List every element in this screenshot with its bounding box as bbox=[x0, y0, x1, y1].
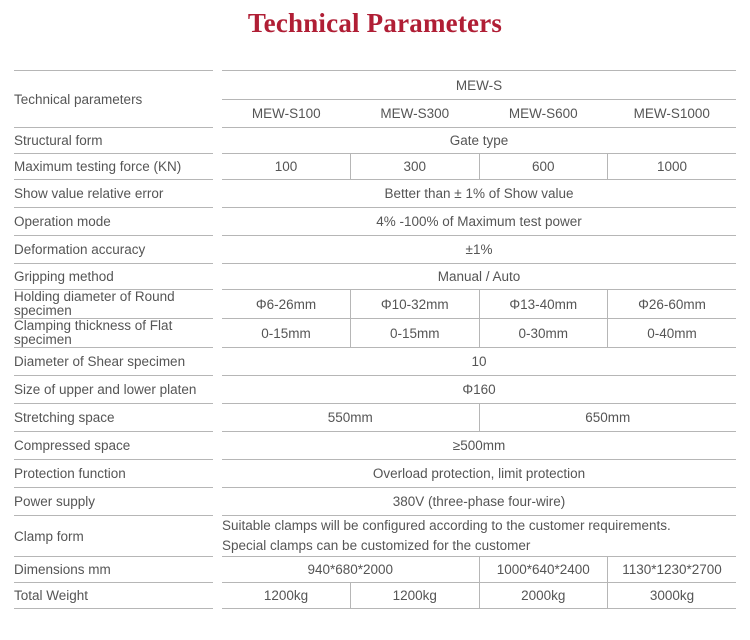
row-label-protection-function: Protection function bbox=[14, 460, 213, 488]
row-value-max-force-2: 300 bbox=[351, 154, 480, 180]
row-label-maximum-testing-force: Maximum testing force (KN) bbox=[14, 154, 213, 180]
row-value-clamp-form: Suitable clamps will be configured accor… bbox=[222, 516, 736, 557]
row-value-max-force-1: 100 bbox=[222, 154, 351, 180]
row-label-compressed-space: Compressed space bbox=[14, 432, 213, 460]
page-title: Technical Parameters bbox=[0, 8, 750, 39]
table-row: Protection function Overload protection,… bbox=[14, 460, 736, 488]
column-gap bbox=[213, 290, 222, 319]
column-gap bbox=[213, 348, 222, 376]
table-row: Total Weight 1200kg 1200kg 2000kg 3000kg bbox=[14, 583, 736, 609]
row-value-total-weight-4: 3000kg bbox=[608, 583, 737, 609]
row-value-total-weight-2: 1200kg bbox=[351, 583, 480, 609]
column-gap bbox=[213, 583, 222, 609]
table-row: Deformation accuracy ±1% bbox=[14, 236, 736, 264]
header-model-4: MEW-S1000 bbox=[608, 100, 737, 128]
column-gap bbox=[213, 432, 222, 460]
row-value-clamping-thickness-3: 0-30mm bbox=[479, 319, 608, 348]
row-label-stretching-space: Stretching space bbox=[14, 404, 213, 432]
table-header-series-row: Technical parameters MEW-S bbox=[14, 71, 736, 100]
row-label-power-supply: Power supply bbox=[14, 488, 213, 516]
table-row: Dimensions mm 940*680*2000 1000*640*2400… bbox=[14, 557, 736, 583]
table-row: Show value relative error Better than ± … bbox=[14, 180, 736, 208]
row-value-deformation-accuracy: ±1% bbox=[222, 236, 736, 264]
table-row: Compressed space ≥500mm bbox=[14, 432, 736, 460]
row-label-line-2: specimen bbox=[14, 304, 213, 318]
table-row: Power supply 380V (three-phase four-wire… bbox=[14, 488, 736, 516]
column-gap bbox=[213, 488, 222, 516]
row-value-holding-diameter-2: Φ10-32mm bbox=[351, 290, 480, 319]
column-gap bbox=[213, 516, 222, 557]
column-gap bbox=[213, 376, 222, 404]
row-value-max-force-4: 1000 bbox=[608, 154, 737, 180]
row-value-holding-diameter-4: Φ26-60mm bbox=[608, 290, 737, 319]
column-gap bbox=[213, 236, 222, 264]
header-model-3: MEW-S600 bbox=[479, 100, 608, 128]
table-row: Size of upper and lower platen Φ160 bbox=[14, 376, 736, 404]
row-value-clamping-thickness-1: 0-15mm bbox=[222, 319, 351, 348]
row-value-max-force-3: 600 bbox=[479, 154, 608, 180]
header-model-2: MEW-S300 bbox=[351, 100, 480, 128]
technical-parameters-table: Technical parameters MEW-S MEW-S100 MEW-… bbox=[14, 70, 736, 609]
row-label-holding-diameter-round-specimen: Holding diameter of Round specimen bbox=[14, 290, 213, 319]
table-row: Diameter of Shear specimen 10 bbox=[14, 348, 736, 376]
clamp-form-line-1: Suitable clamps will be configured accor… bbox=[222, 516, 736, 536]
row-label-gripping-method: Gripping method bbox=[14, 264, 213, 290]
row-value-size-upper-lower-platen: Φ160 bbox=[222, 376, 736, 404]
table-row: Operation mode 4% -100% of Maximum test … bbox=[14, 208, 736, 236]
table-row: Clamp form Suitable clamps will be confi… bbox=[14, 516, 736, 557]
row-value-stretching-space-1: 550mm bbox=[222, 404, 479, 432]
row-label-dimensions: Dimensions mm bbox=[14, 557, 213, 583]
column-gap bbox=[213, 319, 222, 348]
row-value-compressed-space: ≥500mm bbox=[222, 432, 736, 460]
row-label-line-2: specimen bbox=[14, 333, 213, 347]
row-label-clamping-thickness-flat-specimen: Clamping thickness of Flat specimen bbox=[14, 319, 213, 348]
row-label-size-upper-lower-platen: Size of upper and lower platen bbox=[14, 376, 213, 404]
column-gap bbox=[213, 208, 222, 236]
column-gap bbox=[213, 264, 222, 290]
table-row: Stretching space 550mm 650mm bbox=[14, 404, 736, 432]
row-value-total-weight-1: 1200kg bbox=[222, 583, 351, 609]
row-value-structural-form: Gate type bbox=[222, 128, 736, 154]
column-gap bbox=[213, 71, 222, 128]
table-row: Clamping thickness of Flat specimen 0-15… bbox=[14, 319, 736, 348]
row-label-total-weight: Total Weight bbox=[14, 583, 213, 609]
row-value-gripping-method: Manual / Auto bbox=[222, 264, 736, 290]
header-series-name: MEW-S bbox=[222, 71, 736, 100]
row-value-dimensions-3: 1130*1230*2700 bbox=[608, 557, 737, 583]
header-label-technical-parameters: Technical parameters bbox=[14, 71, 213, 128]
clamp-form-line-2: Special clamps can be customized for the… bbox=[222, 536, 736, 556]
row-value-stretching-space-2: 650mm bbox=[479, 404, 736, 432]
row-label-show-value-relative-error: Show value relative error bbox=[14, 180, 213, 208]
row-label-clamp-form: Clamp form bbox=[14, 516, 213, 557]
table-row: Maximum testing force (KN) 100 300 600 1… bbox=[14, 154, 736, 180]
row-value-clamping-thickness-2: 0-15mm bbox=[351, 319, 480, 348]
row-value-clamping-thickness-4: 0-40mm bbox=[608, 319, 737, 348]
table-row: Holding diameter of Round specimen Φ6-26… bbox=[14, 290, 736, 319]
row-value-show-value-relative-error: Better than ± 1% of Show value bbox=[222, 180, 736, 208]
row-value-total-weight-3: 2000kg bbox=[479, 583, 608, 609]
table-row: Gripping method Manual / Auto bbox=[14, 264, 736, 290]
row-value-protection-function: Overload protection, limit protection bbox=[222, 460, 736, 488]
row-label-operation-mode: Operation mode bbox=[14, 208, 213, 236]
row-value-dimensions-2: 1000*640*2400 bbox=[479, 557, 608, 583]
row-value-dimensions-1: 940*680*2000 bbox=[222, 557, 479, 583]
header-model-1: MEW-S100 bbox=[222, 100, 351, 128]
row-value-diameter-shear-specimen: 10 bbox=[222, 348, 736, 376]
row-value-holding-diameter-3: Φ13-40mm bbox=[479, 290, 608, 319]
column-gap bbox=[213, 404, 222, 432]
column-gap bbox=[213, 128, 222, 154]
row-label-structural-form: Structural form bbox=[14, 128, 213, 154]
column-gap bbox=[213, 180, 222, 208]
row-label-deformation-accuracy: Deformation accuracy bbox=[14, 236, 213, 264]
row-value-operation-mode: 4% -100% of Maximum test power bbox=[222, 208, 736, 236]
row-label-line-1: Holding diameter of Round bbox=[14, 290, 213, 304]
row-label-diameter-shear-specimen: Diameter of Shear specimen bbox=[14, 348, 213, 376]
column-gap bbox=[213, 557, 222, 583]
column-gap bbox=[213, 460, 222, 488]
row-value-holding-diameter-1: Φ6-26mm bbox=[222, 290, 351, 319]
row-value-power-supply: 380V (three-phase four-wire) bbox=[222, 488, 736, 516]
column-gap bbox=[213, 154, 222, 180]
row-label-line-1: Clamping thickness of Flat bbox=[14, 319, 213, 333]
table-row: Structural form Gate type bbox=[14, 128, 736, 154]
technical-parameters-page: Technical Parameters Technical parameter… bbox=[0, 0, 750, 640]
